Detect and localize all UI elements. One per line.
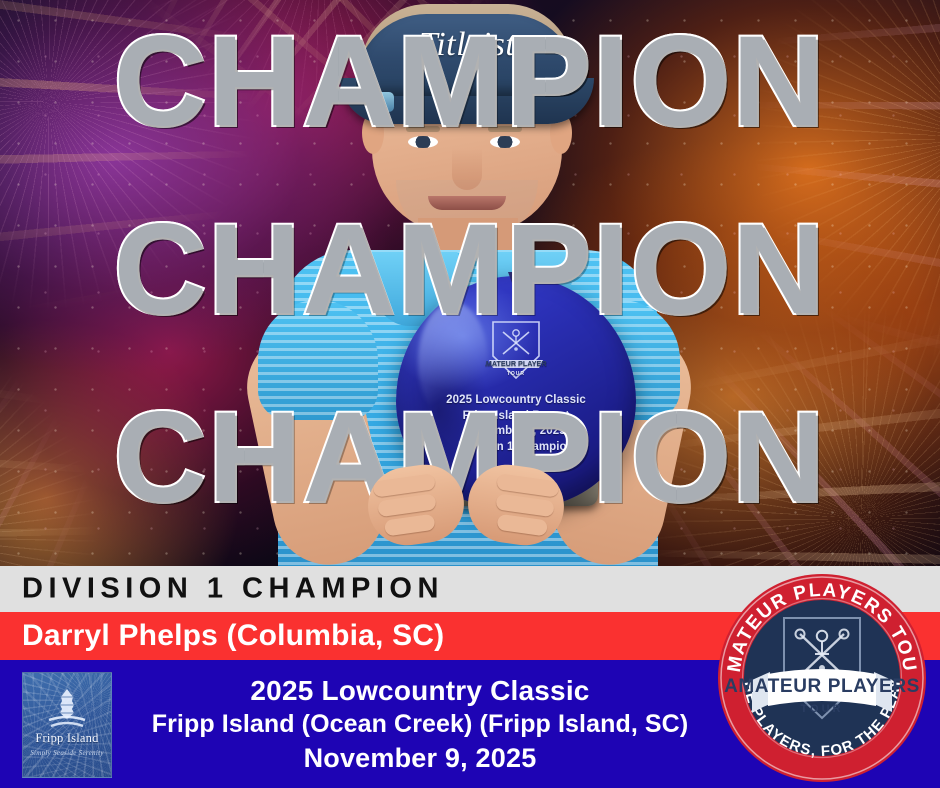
event-date: November 9, 2025 — [304, 741, 537, 775]
badge-ribbon: AMATEUR PLAYERS TOUR — [724, 669, 920, 715]
champion-poster: CHAMPION CHAMPION CHAMPION Titleist — [0, 0, 940, 788]
lighthouse-shell-icon — [44, 687, 90, 731]
hand-right — [463, 460, 569, 551]
badge-ribbon-subtext: TOUR — [801, 703, 844, 715]
photo-area: CHAMPION CHAMPION CHAMPION Titleist — [0, 0, 940, 566]
finger — [377, 493, 437, 517]
division-title: DIVISION 1 CHAMPION — [22, 573, 444, 606]
finger — [496, 514, 548, 537]
event-name: 2025 Lowcountry Classic — [250, 674, 589, 708]
badge-ribbon-text: AMATEUR PLAYERS — [724, 676, 920, 697]
event-venue: Fripp Island (Ocean Creek) (Fripp Island… — [152, 708, 689, 741]
hand-left — [363, 460, 469, 551]
amateur-players-tour-badge: AMATEUR PLAYERS TOUR BY THE PLAYERS, FOR… — [716, 572, 928, 784]
player-name: Darryl Phelps (Columbia, SC) — [22, 619, 444, 653]
finger — [384, 514, 436, 537]
fripp-logo-tagline: Simply Seaside Serenity — [23, 749, 111, 757]
fripp-logo-name: Fripp Island — [23, 731, 111, 746]
event-details: 2025 Lowcountry Classic Fripp Island (Oc… — [120, 660, 720, 788]
fripp-island-logo: Fripp Island Simply Seaside Serenity — [22, 672, 112, 778]
